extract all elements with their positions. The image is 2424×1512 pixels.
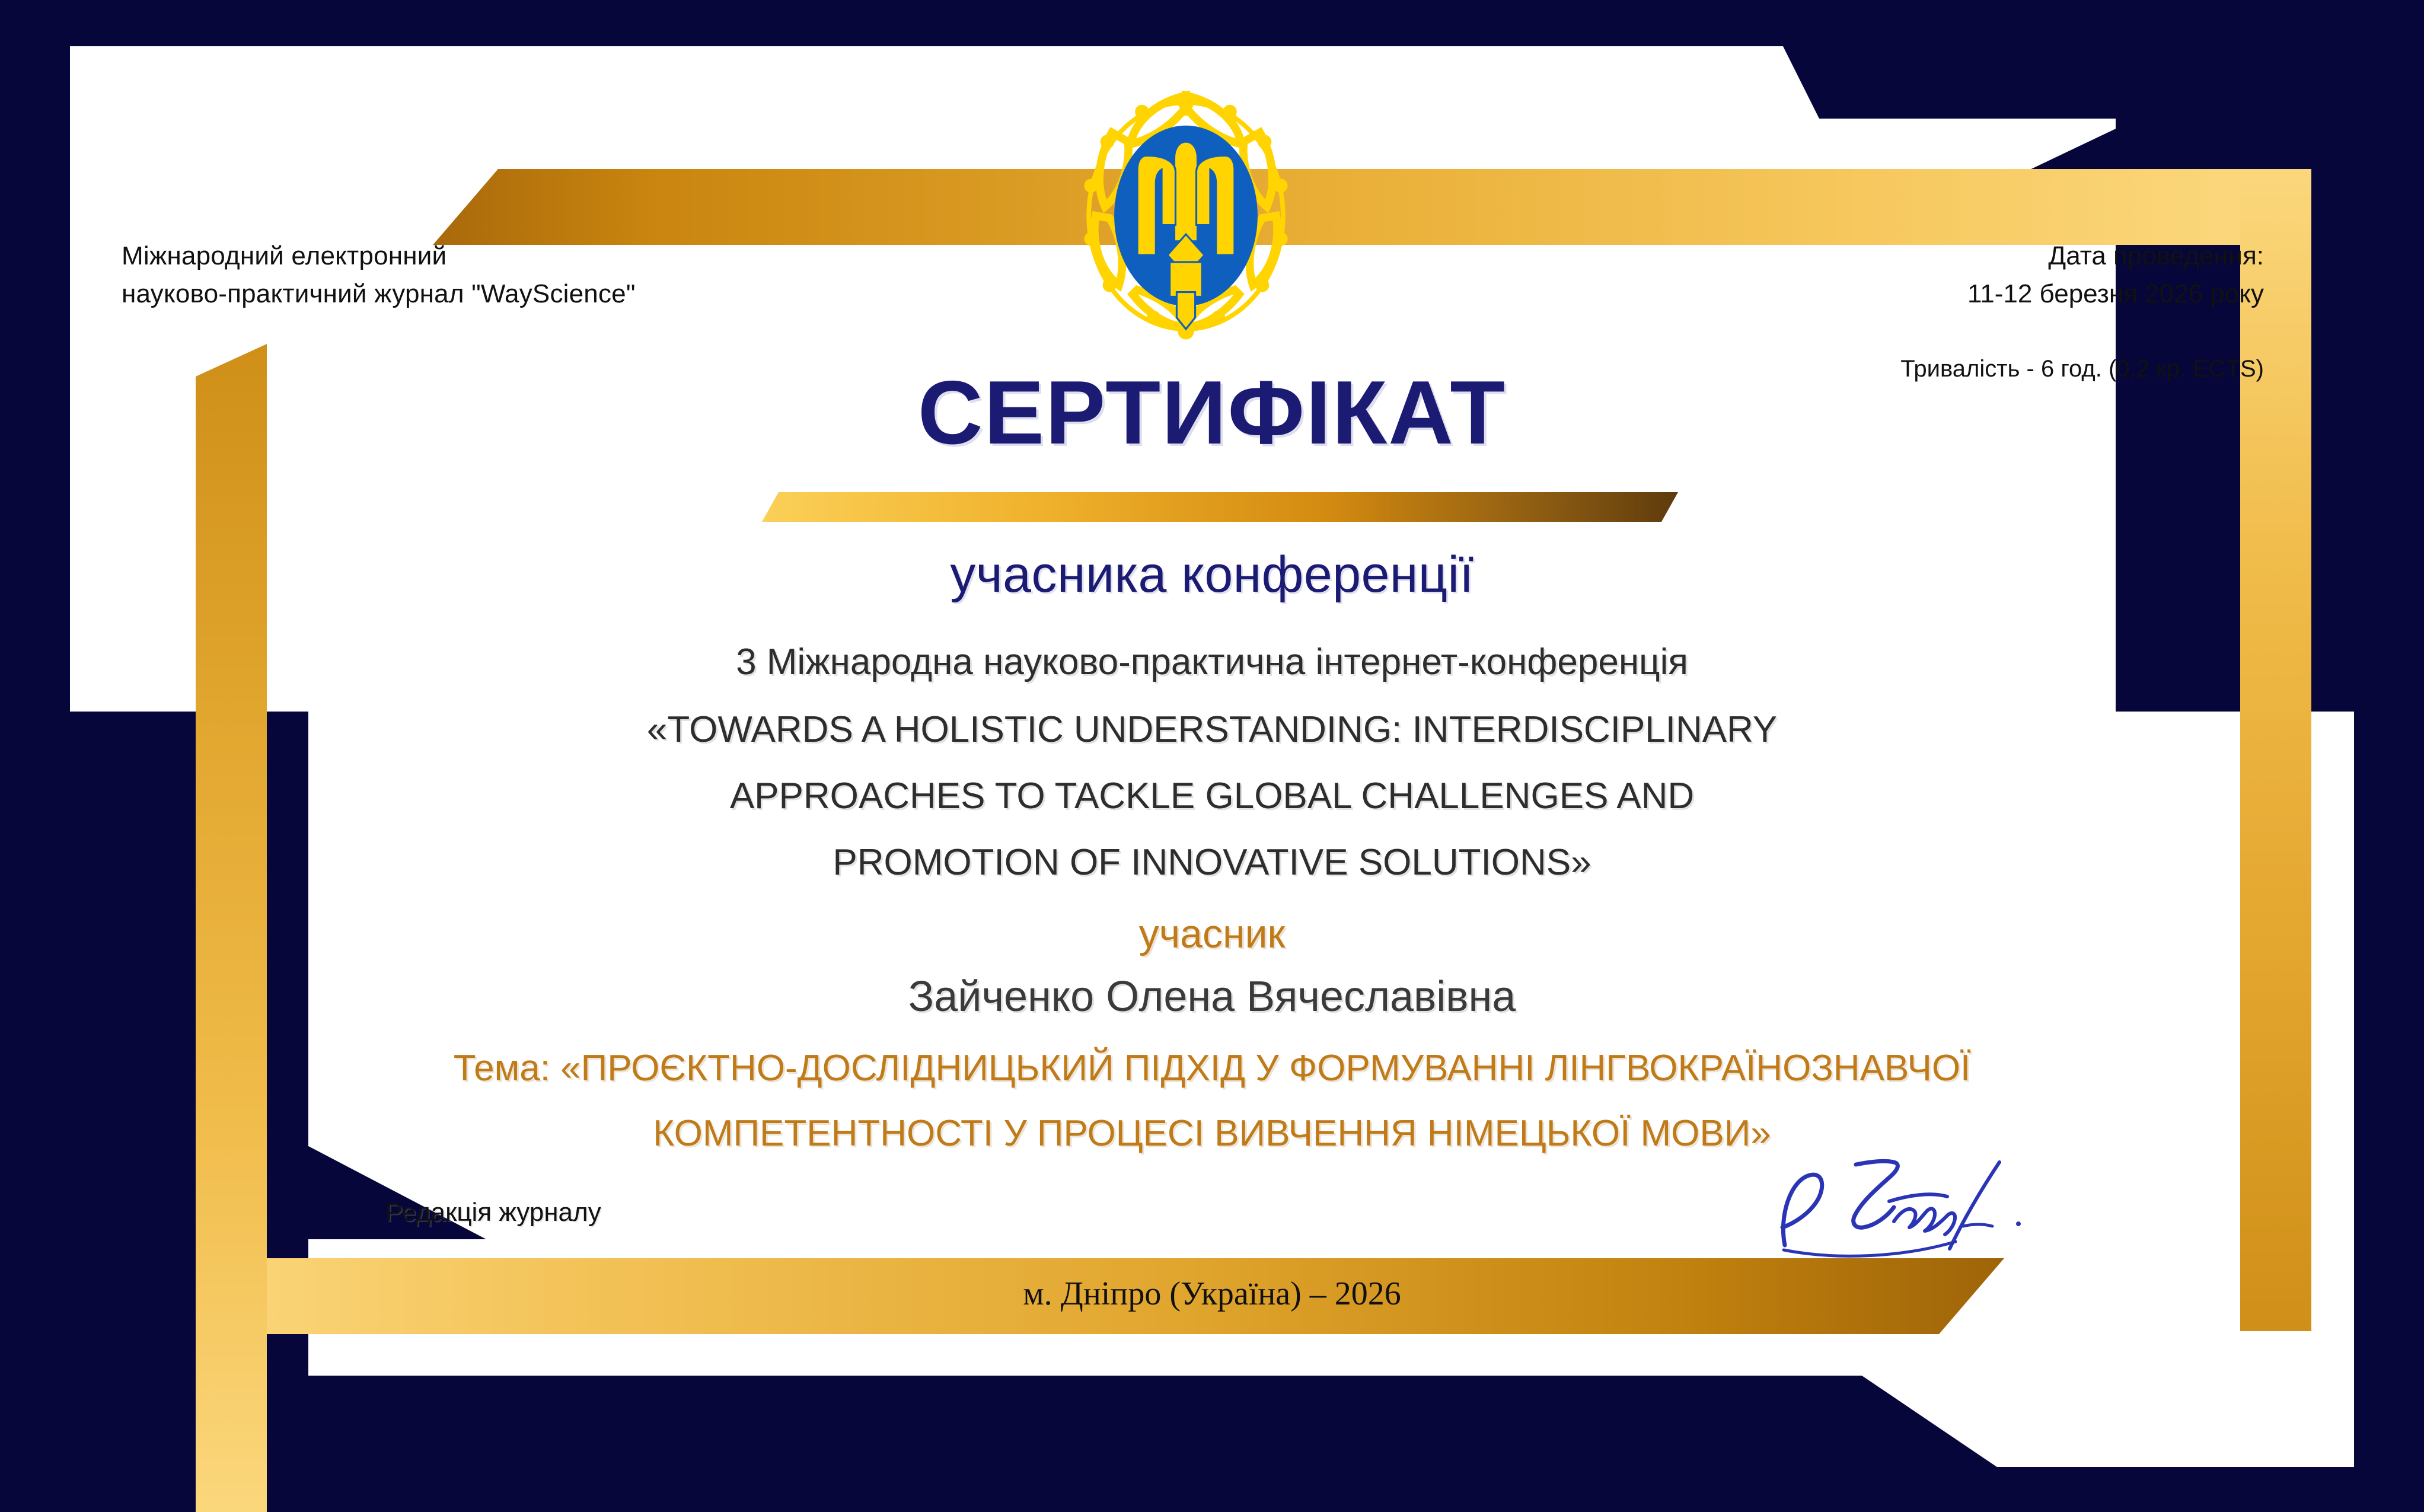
- date-value: 11-12 березня 2026 року: [1967, 275, 2264, 313]
- ukraine-coat-of-arms-icon: [1070, 86, 1302, 341]
- conference-name-en-l1: «TOWARDS A HOLISTIC UNDERSTANDING: INTER…: [0, 709, 2424, 750]
- journal-name: Міжнародний електронний науково-практичн…: [122, 237, 636, 313]
- editor-signature-icon: [1767, 1144, 2075, 1269]
- certificate-title-wrap: СЕРТИФІКАТ: [0, 368, 2424, 458]
- date-label: Дата проведення:: [1967, 237, 2264, 275]
- certificate-content: Міжнародний електронний науково-практичн…: [0, 0, 2424, 1512]
- editorial-label: Редакція журналу: [385, 1198, 601, 1227]
- participant-name: Зайченко Олена Вячеславівна: [0, 972, 2424, 1021]
- certificate-page: Міжнародний електронний науково-практичн…: [0, 0, 2424, 1512]
- certificate-subtitle: учасника конференції: [0, 546, 2424, 604]
- place-and-year: м. Дніпро (Україна) – 2026: [0, 1275, 2424, 1313]
- conference-name-en-l2: APPROACHES TO TACKLE GLOBAL CHALLENGES A…: [0, 776, 2424, 816]
- conference-name-en-l3: PROMOTION OF INNOVATIVE SOLUTIONS»: [0, 842, 2424, 883]
- conference-name-ua: 3 Міжнародна науково-практична інтернет-…: [0, 642, 2424, 682]
- topic-line-1: Тема: «ПРОЄКТНО-ДОСЛІДНИЦЬКИЙ ПІДХІД У Ф…: [0, 1048, 2424, 1089]
- certificate-title: СЕРТИФІКАТ: [918, 368, 1506, 458]
- title-underline-bar: [762, 492, 1678, 522]
- journal-line-1: Міжнародний електронний: [122, 237, 636, 275]
- event-date-block: Дата проведення: 11-12 березня 2026 року: [1967, 237, 2264, 313]
- participant-role-label: учасник: [0, 911, 2424, 957]
- journal-line-2: науково-практичний журнал "WayScience": [122, 275, 636, 313]
